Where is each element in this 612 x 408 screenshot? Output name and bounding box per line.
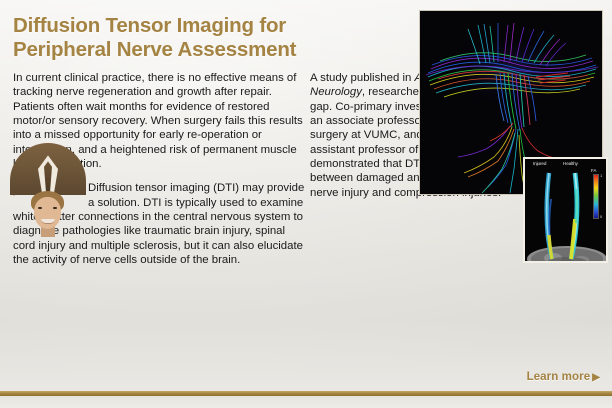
left-text-column: In current clinical practice, there is n… (13, 71, 305, 267)
page-title: Diffusion Tensor Imaging for Peripheral … (13, 14, 413, 62)
left-paragraph-2: Dr. Thayer Diffusion tensor imaging (DTI… (13, 181, 305, 267)
footer-strip (0, 396, 612, 408)
learn-more-label: Learn more (527, 371, 591, 383)
fa-scale-max: 1 (600, 173, 602, 178)
right-text-seg-1: A study published in (310, 72, 414, 84)
fa-scale-label: FA (591, 168, 596, 173)
gold-divider (0, 391, 612, 396)
dr-thayer-photo (13, 182, 15, 196)
page-title-line-2: Peripheral Nerve Assessment (13, 38, 413, 62)
portrait-figure: Dr. Thayer (13, 182, 79, 196)
nerve-comparison-inset: Injured Healthy FA 1 0 (523, 157, 608, 263)
chevron-right-icon: ▶ (592, 372, 600, 383)
suit-shape (13, 182, 15, 195)
page-title-line-1: Diffusion Tensor Imaging for (13, 14, 286, 37)
fa-scale-min: 0 (600, 214, 602, 219)
article-card: Diffusion Tensor Imaging for Peripheral … (0, 0, 612, 408)
inset-label-injured: Injured (533, 161, 546, 166)
learn-more-link[interactable]: Learn more▶ (527, 371, 600, 383)
inset-label-healthy: Healthy (563, 161, 578, 166)
fa-colorbar (593, 174, 599, 219)
